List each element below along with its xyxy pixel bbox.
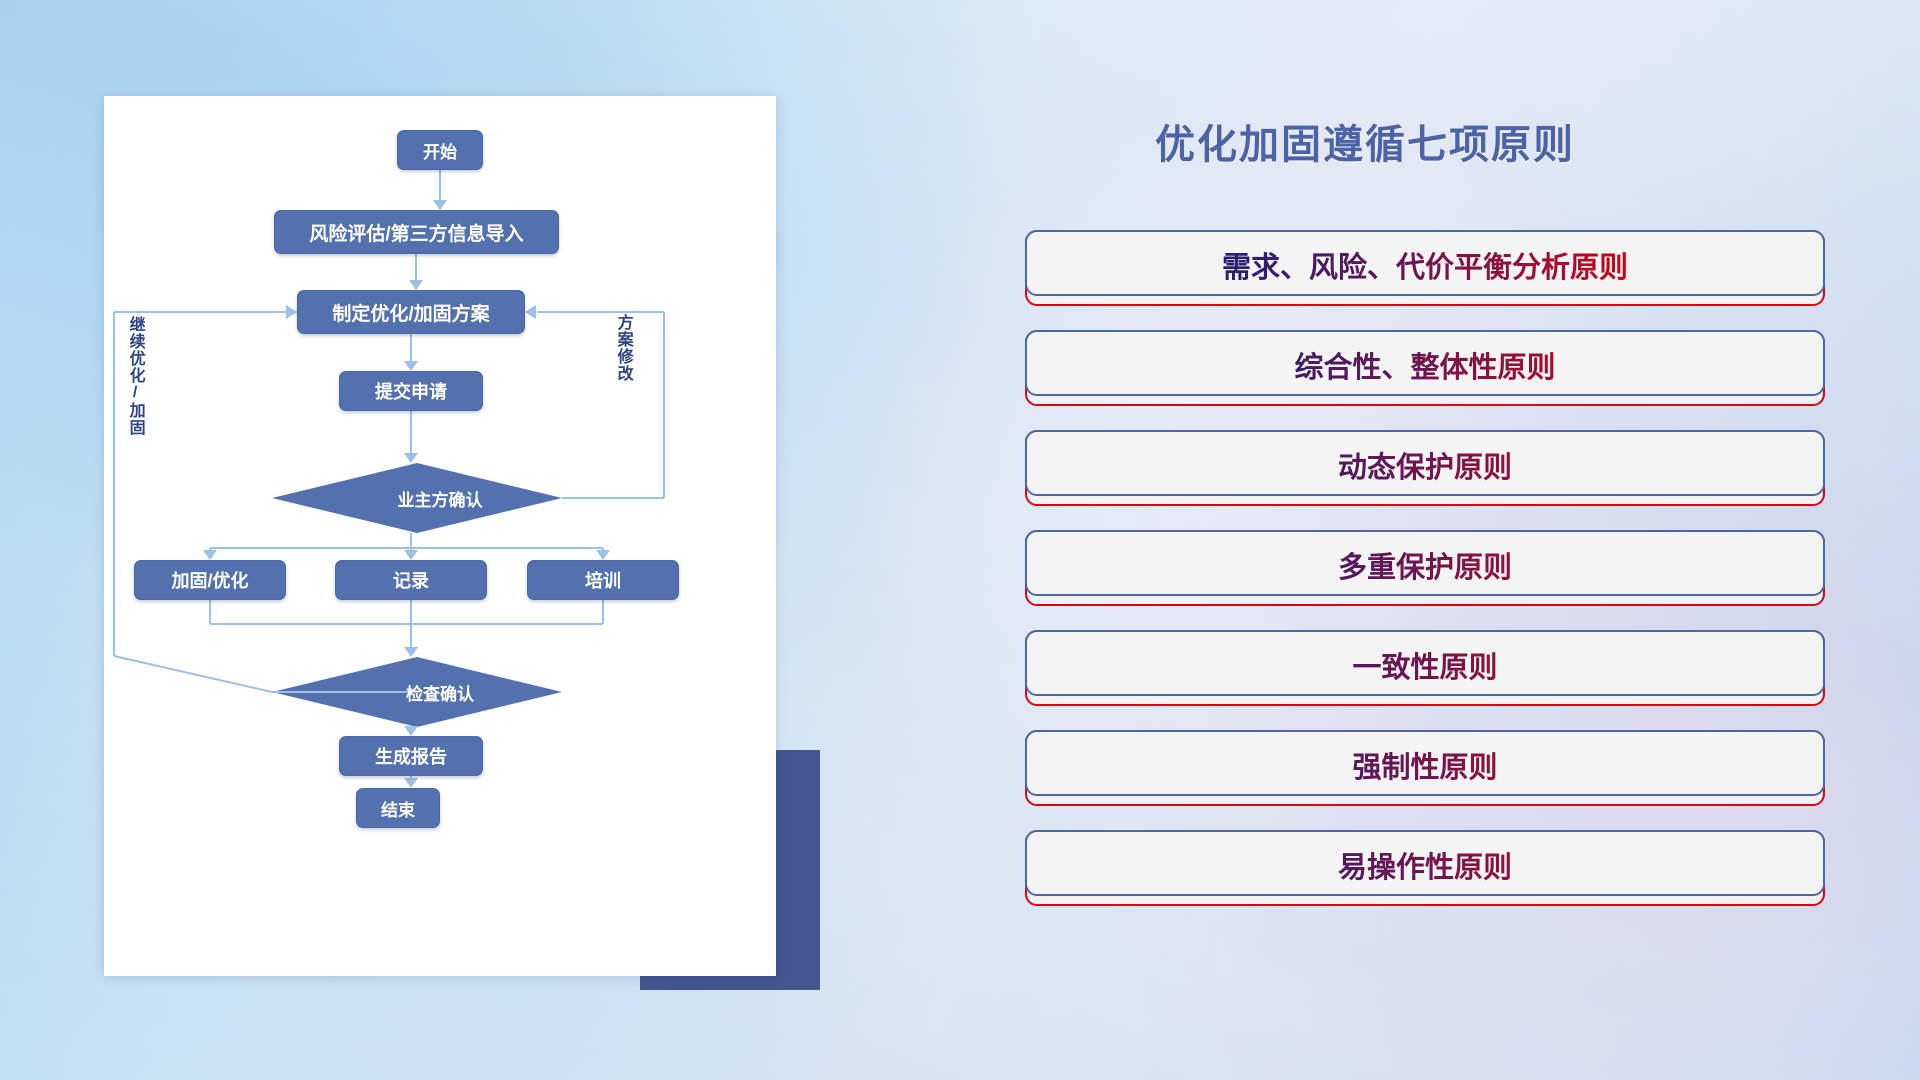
flow-node-record[interactable]: 记录 <box>335 560 487 600</box>
principle-label: 强制性原则 <box>1025 730 1825 800</box>
principle-list: 需求、风险、代价平衡分析原则综合性、整体性原则动态保护原则多重保护原则一致性原则… <box>1025 230 1825 930</box>
page-title: 优化加固遵循七项原则 <box>1155 112 1575 170</box>
flow-node-start[interactable]: 开始 <box>397 130 483 170</box>
principle-label: 需求、风险、代价平衡分析原则 <box>1025 230 1825 300</box>
principle-item[interactable]: 易操作性原则 <box>1025 830 1825 906</box>
principle-item[interactable]: 一致性原则 <box>1025 630 1825 706</box>
flow-node-check[interactable]: 检查确认 <box>104 680 776 705</box>
principle-item[interactable]: 强制性原则 <box>1025 730 1825 806</box>
principle-label: 综合性、整体性原则 <box>1025 330 1825 400</box>
principle-label: 多重保护原则 <box>1025 530 1825 600</box>
principle-item[interactable]: 多重保护原则 <box>1025 530 1825 606</box>
flow-node-plan[interactable]: 制定优化/加固方案 <box>297 290 525 334</box>
flow-node-end[interactable]: 结束 <box>356 788 440 828</box>
principle-label: 一致性原则 <box>1025 630 1825 700</box>
principle-label: 易操作性原则 <box>1025 830 1825 900</box>
flowchart: 开始风险评估/第三方信息导入制定优化/加固方案提交申请业主方确认加固/优化记录培… <box>104 96 776 976</box>
flow-side-label-right-loop: 方案修改 <box>614 314 631 382</box>
principle-item[interactable]: 动态保护原则 <box>1025 430 1825 506</box>
principle-item[interactable]: 综合性、整体性原则 <box>1025 330 1825 406</box>
flow-side-label-left-loop: 继续优化/加固 <box>126 316 143 436</box>
flow-node-reinforce[interactable]: 加固/优化 <box>134 560 286 600</box>
flow-node-submit[interactable]: 提交申请 <box>339 371 483 411</box>
flow-node-training[interactable]: 培训 <box>527 560 679 600</box>
flow-node-report[interactable]: 生成报告 <box>339 736 483 776</box>
flow-node-risk[interactable]: 风险评估/第三方信息导入 <box>274 210 559 254</box>
flow-node-ownerconfirm[interactable]: 业主方确认 <box>104 486 776 511</box>
principle-label: 动态保护原则 <box>1025 430 1825 500</box>
principle-item[interactable]: 需求、风险、代价平衡分析原则 <box>1025 230 1825 306</box>
